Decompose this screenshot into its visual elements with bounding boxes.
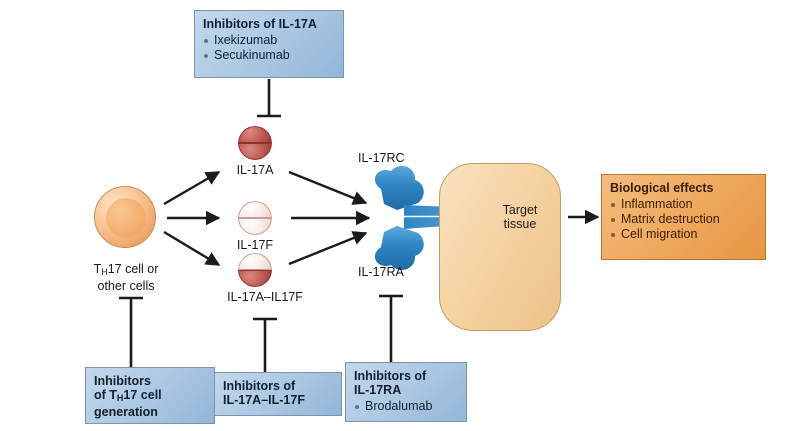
arrow-cell-to-il17a	[164, 172, 219, 204]
effects-item: Matrix destruction	[610, 212, 757, 227]
il17ra-box-line2: IL-17RA	[354, 383, 401, 397]
il17af-box-line1: Inhibitors of	[223, 379, 295, 393]
arrow-group-cell-to-cytokines	[164, 172, 219, 265]
arrow-cell-to-il17af	[164, 232, 219, 265]
cytokine-il17a-il17f	[238, 253, 272, 287]
il17ra-lobe	[375, 226, 424, 270]
cytokine-il17a-label: IL-17A	[215, 163, 295, 177]
biological-effects-box: Biological effects Inflammation Matrix d…	[601, 174, 766, 260]
receptor-il17ra-label: IL-17RA	[358, 265, 404, 279]
effects-item: Cell migration	[610, 227, 757, 242]
arrow-il17af-to-receptor	[289, 233, 366, 264]
arrow-il17a-to-receptor	[289, 172, 366, 203]
inhibitor-drug-item: Secukinumab	[203, 48, 335, 63]
inhibitors-of-il17ra-box: Inhibitors of IL-17RA Brodalumab	[345, 362, 467, 422]
cytokine-il17f	[238, 201, 272, 235]
inhibitors-of-il17ra-title: Inhibitors of IL-17RA	[354, 369, 458, 397]
cytokine-il17a	[238, 126, 272, 160]
th17-box-line3: generation	[94, 405, 158, 419]
inhibitor-drug-item: Ixekizumab	[203, 33, 335, 48]
inhibitors-of-il17a-il17f-box: Inhibitors of IL-17A–IL-17F	[214, 372, 342, 416]
target-tissue	[439, 163, 561, 331]
inhibitors-of-il17ra-list: Brodalumab	[354, 399, 458, 414]
th17-label-line2: other cells	[98, 279, 155, 293]
inhibitors-of-th17-generation-box: Inhibitors of TH17 cell generation	[85, 367, 215, 424]
inhibitors-of-il17a-box: Inhibitors of IL-17A Ixekizumab Secukinu…	[194, 10, 344, 78]
th17-box-line2b: 17 cell	[123, 388, 161, 402]
receptor-il17rc-label: IL-17RC	[358, 151, 405, 165]
effects-item: Inflammation	[610, 197, 757, 212]
biological-effects-title: Biological effects	[610, 181, 757, 195]
il17rc-lobe	[375, 166, 424, 210]
cytokine-il17f-label: IL-17F	[215, 238, 295, 252]
th17-box-line1: Inhibitors	[94, 374, 151, 388]
il17ra-box-line1: Inhibitors of	[354, 369, 426, 383]
inhibitors-of-il17a-list: Ixekizumab Secukinumab	[203, 33, 335, 63]
inhibitors-of-il17a-il17f-title: Inhibitors of IL-17A–IL-17F	[223, 379, 333, 407]
tissue-label-line1: Target	[503, 203, 538, 217]
th17-source-cell	[94, 186, 156, 248]
inhibitor-drug-item: Brodalumab	[354, 399, 458, 414]
arrow-group-cytokines-to-receptor	[289, 172, 369, 264]
tissue-label-line2: tissue	[504, 217, 537, 231]
th17-box-line2a: of T	[94, 388, 117, 402]
inhibitors-of-th17-generation-title: Inhibitors of TH17 cell generation	[94, 374, 206, 419]
biological-effects-list: Inflammation Matrix destruction Cell mig…	[610, 197, 757, 242]
target-tissue-label: Target tissue	[480, 203, 560, 231]
th17-cell-label: TH17 cell or other cells	[76, 262, 176, 293]
inhibitors-of-il17a-title: Inhibitors of IL-17A	[203, 17, 335, 31]
cytokine-il17a-il17f-label: IL-17A–IL17F	[205, 290, 325, 304]
il17af-box-line2: IL-17A–IL-17F	[223, 393, 305, 407]
pathway-diagram: TH17 cell or other cells IL-17A IL-17F I…	[0, 0, 800, 431]
th17-label-rest: 17 cell or	[108, 262, 159, 276]
